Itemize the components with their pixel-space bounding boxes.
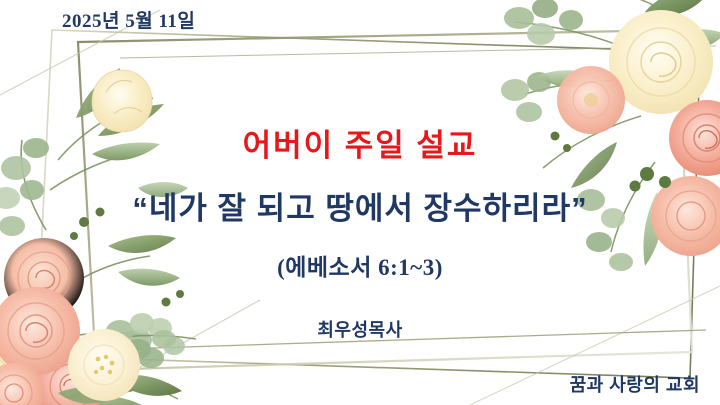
verse-quote: “네가 잘 되고 땅에서 장수하리라” (0, 183, 720, 228)
pointed-leaves (58, 375, 182, 405)
cream-rose-large (609, 10, 713, 114)
scripture-reference: (에베소서 6:1~3) (0, 248, 720, 282)
stems (78, 336, 196, 399)
date-label: 2025년 5월 11일 (62, 6, 195, 33)
sermon-slide: 2025년 5월 11일 어버이 주일 설교 “네가 잘 되고 땅에서 장수하리… (0, 0, 720, 405)
stamen (94, 355, 115, 374)
pink-rose-small (0, 363, 44, 405)
page-title: 어버이 주일 설교 (0, 120, 720, 165)
pointed-leaves (50, 68, 188, 405)
pink-rose-bottom (36, 350, 108, 405)
church-name: 꿈과 사랑의 교회 (570, 371, 700, 397)
preacher-name: 최우성목사 (0, 316, 720, 342)
